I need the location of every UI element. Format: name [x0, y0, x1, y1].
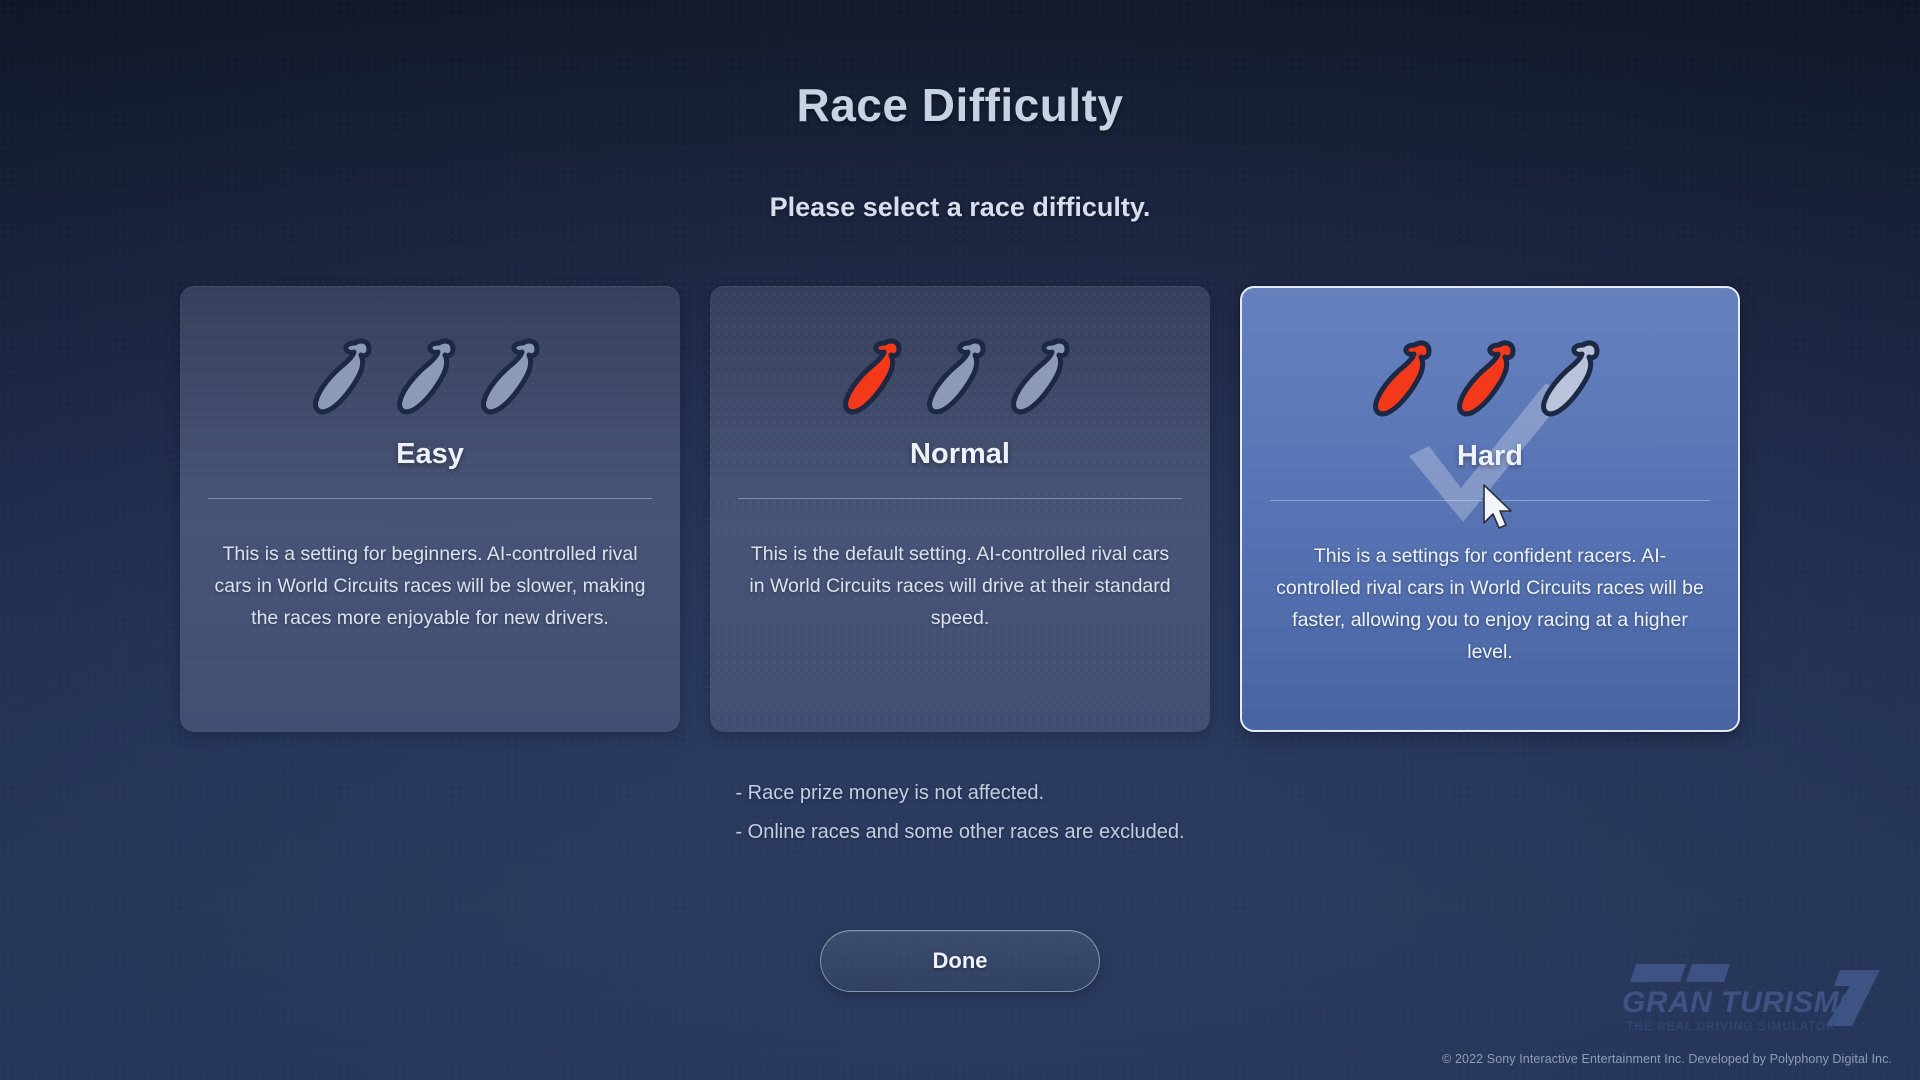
done-button[interactable]: Done: [820, 930, 1100, 992]
chili-pepper-icon: [1371, 333, 1441, 425]
chili-pepper-icon: [479, 331, 549, 423]
card-divider: [208, 498, 652, 499]
chili-pepper-icon: [925, 331, 995, 423]
svg-text:GRAN TURISMO: GRAN TURISMO: [1622, 986, 1863, 1019]
chili-pepper-icon: [395, 331, 465, 423]
pepper-rating-hard: [1242, 324, 1738, 434]
copyright-text: © 2022 Sony Interactive Entertainment In…: [1442, 1052, 1892, 1066]
difficulty-card-list: Easy This is a setting for beginners. AI…: [180, 286, 1740, 732]
card-divider: [1270, 500, 1710, 501]
difficulty-label-hard: Hard: [1242, 440, 1738, 473]
chili-pepper-icon: [1009, 331, 1079, 423]
difficulty-card-easy[interactable]: Easy This is a setting for beginners. AI…: [180, 286, 680, 732]
gran-turismo-7-logo: GRAN TURISMO THE REAL DRIVING SIMULATOR: [1612, 960, 1892, 1038]
notes-section: - Race prize money is not affected. - On…: [0, 774, 1920, 852]
race-difficulty-screen: Race Difficulty Please select a race dif…: [0, 0, 1920, 1080]
difficulty-description-hard: This is a settings for confident racers.…: [1276, 540, 1704, 668]
note-item: - Race prize money is not affected.: [735, 774, 1184, 813]
pepper-rating-easy: [180, 322, 680, 432]
chili-pepper-icon: [1455, 333, 1525, 425]
svg-text:THE REAL DRIVING SIMULATOR: THE REAL DRIVING SIMULATOR: [1626, 1021, 1836, 1033]
difficulty-card-hard[interactable]: Hard This is a settings for confident ra…: [1240, 286, 1740, 732]
card-divider: [738, 498, 1182, 499]
page-title: Race Difficulty: [0, 78, 1920, 132]
chili-pepper-icon: [1539, 333, 1609, 425]
pepper-rating-normal: [710, 322, 1210, 432]
chili-pepper-icon: [311, 331, 381, 423]
difficulty-description-easy: This is a setting for beginners. AI-cont…: [214, 538, 646, 634]
chili-pepper-icon: [841, 331, 911, 423]
page-subtitle: Please select a race difficulty.: [0, 192, 1920, 223]
difficulty-description-normal: This is the default setting. AI-controll…: [744, 538, 1176, 634]
difficulty-card-normal[interactable]: Normal This is the default setting. AI-c…: [710, 286, 1210, 732]
note-item: - Online races and some other races are …: [735, 813, 1184, 852]
difficulty-label-easy: Easy: [180, 438, 680, 471]
difficulty-label-normal: Normal: [710, 438, 1210, 471]
